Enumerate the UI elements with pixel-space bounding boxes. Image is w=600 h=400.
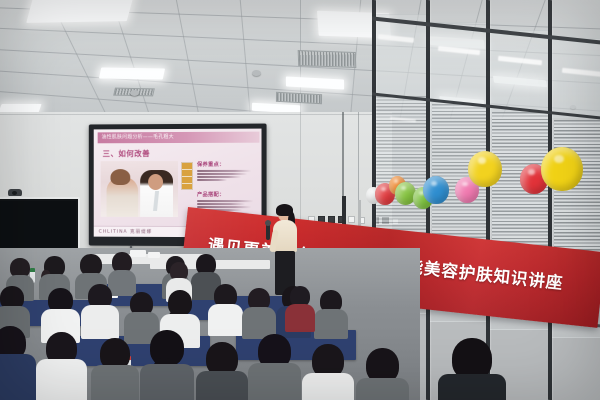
- smoke-detector-icon: [252, 70, 261, 76]
- slide-section-one-title: 保养重点：: [197, 161, 255, 168]
- ceiling-light: [286, 76, 344, 89]
- paper-stack: [130, 250, 146, 257]
- slide-section-one: 保养重点：: [197, 161, 255, 182]
- smoke-detector-icon: [130, 90, 139, 96]
- air-vent: [276, 92, 322, 104]
- photo-client-hair: [110, 169, 130, 185]
- ceiling-light: [99, 67, 165, 79]
- slide-brand-logo: CHLITINA 克丽缇娜: [99, 228, 153, 234]
- air-vent: [298, 50, 357, 68]
- microphone-icon: [266, 224, 270, 240]
- slide-title-text: 油性肌肤问题分析——毛孔粗大: [98, 132, 260, 144]
- balloon-blue: [423, 176, 449, 204]
- photo-consultant-face: [148, 174, 163, 190]
- photo-scene: 油性肌肤问题分析——毛孔粗大 三、如何改善 保养重点：: [0, 0, 600, 400]
- presenter: [270, 206, 304, 294]
- slide-photo: [101, 161, 178, 217]
- balloon-yellow-2: [541, 147, 583, 191]
- slide-swatch-strip: [181, 162, 193, 190]
- microphone-head-icon: [265, 220, 271, 226]
- slide-title-bar: 油性肌肤问题分析——毛孔粗大: [98, 132, 260, 144]
- wall-outlet[interactable]: [348, 216, 355, 223]
- slide-heading: 三、如何改善: [103, 148, 151, 159]
- paper-stack: [148, 252, 160, 258]
- ceiling-light: [26, 0, 133, 23]
- balloon-yellow-1: [468, 151, 502, 187]
- slide-section-two-title: 产品搭配：: [197, 191, 255, 198]
